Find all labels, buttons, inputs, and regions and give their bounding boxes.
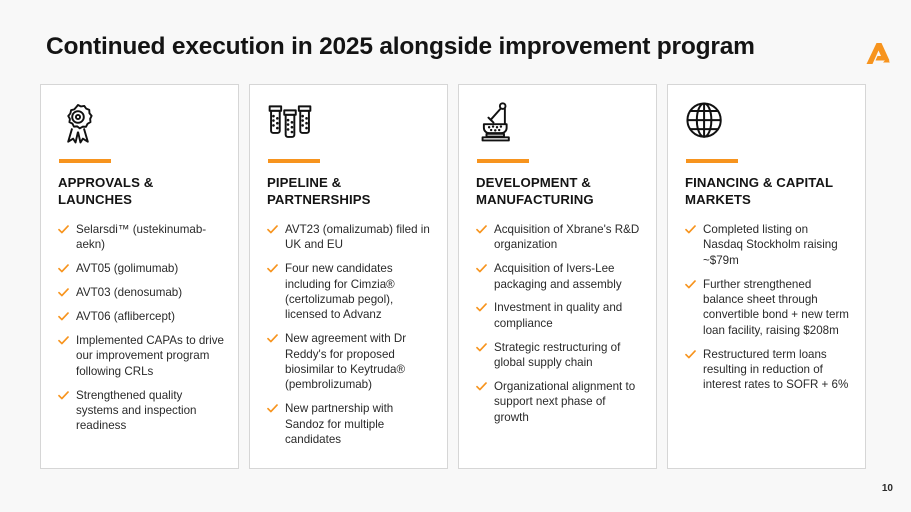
list-item-text: Acquisition of Xbrane's R&D organization [494, 222, 642, 253]
check-icon [267, 261, 278, 275]
list-item: Implemented CAPAs to drive our improveme… [58, 333, 224, 379]
list-item: Completed listing on Nasdaq Stockholm ra… [685, 222, 851, 268]
list-item-text: Four new candidates including for Cimzia… [285, 261, 433, 323]
card-pipeline-partnerships: PIPELINE & PARTNERSHIPS AVT23 (omalizuma… [249, 84, 448, 469]
check-icon [58, 261, 69, 275]
check-icon [476, 261, 487, 275]
list-item-text: AVT06 (aflibercept) [76, 309, 175, 324]
card-heading: PIPELINE & PARTNERSHIPS [267, 175, 433, 209]
globe-icon [685, 101, 851, 149]
list-item: AVT23 (omalizumab) filed in UK and EU [267, 222, 433, 253]
check-icon [58, 333, 69, 347]
vials-icon [267, 101, 433, 149]
microscope-icon [476, 101, 642, 149]
page-number: 10 [882, 483, 893, 494]
list-item-text: Strengthened quality systems and inspect… [76, 388, 224, 434]
list-item: Four new candidates including for Cimzia… [267, 261, 433, 323]
list-item-text: Investment in quality and compliance [494, 300, 642, 331]
list-item: New partnership with Sandoz for multiple… [267, 401, 433, 447]
list-item: Further strengthened balance sheet throu… [685, 277, 851, 339]
list-item: AVT03 (denosumab) [58, 285, 224, 300]
bullet-list: Completed listing on Nasdaq Stockholm ra… [685, 222, 851, 393]
accent-bar [477, 159, 529, 163]
list-item-text: AVT05 (golimumab) [76, 261, 178, 276]
check-icon [476, 222, 487, 236]
list-item-text: AVT03 (denosumab) [76, 285, 182, 300]
list-item: Restructured term loans resulting in red… [685, 347, 851, 393]
check-icon [476, 340, 487, 354]
check-icon [685, 222, 696, 236]
check-icon [58, 285, 69, 299]
check-icon [267, 401, 278, 415]
list-item-text: New partnership with Sandoz for multiple… [285, 401, 433, 447]
accent-bar [59, 159, 111, 163]
list-item-text: Implemented CAPAs to drive our improveme… [76, 333, 224, 379]
check-icon [685, 277, 696, 291]
alvotech-logo-mark [863, 40, 893, 68]
list-item-text: Selarsdi™ (ustekinumab-aekn) [76, 222, 224, 253]
check-icon [476, 300, 487, 314]
list-item: Investment in quality and compliance [476, 300, 642, 331]
list-item: New agreement with Dr Reddy's for propos… [267, 331, 433, 393]
list-item-text: AVT23 (omalizumab) filed in UK and EU [285, 222, 433, 253]
check-icon [58, 222, 69, 236]
list-item: Acquisition of Ivers-Lee packaging and a… [476, 261, 642, 292]
list-item: Organizational alignment to support next… [476, 379, 642, 425]
list-item-text: Restructured term loans resulting in red… [703, 347, 851, 393]
bullet-list: AVT23 (omalizumab) filed in UK and EU Fo… [267, 222, 433, 448]
list-item: AVT05 (golimumab) [58, 261, 224, 276]
list-item-text: Further strengthened balance sheet throu… [703, 277, 851, 339]
card-heading: APPROVALS & LAUNCHES [58, 175, 224, 209]
page-title: Continued execution in 2025 alongside im… [46, 33, 755, 61]
slide: Continued execution in 2025 alongside im… [0, 0, 911, 512]
list-item: Strengthened quality systems and inspect… [58, 388, 224, 434]
bullet-list: Acquisition of Xbrane's R&D organization… [476, 222, 642, 425]
list-item: Strategic restructuring of global supply… [476, 340, 642, 371]
card-heading: DEVELOPMENT & MANUFACTURING [476, 175, 642, 209]
award-rosette-icon [58, 101, 224, 149]
check-icon [58, 388, 69, 402]
accent-bar [686, 159, 738, 163]
bullet-list: Selarsdi™ (ustekinumab-aekn) AVT05 (goli… [58, 222, 224, 434]
list-item: Acquisition of Xbrane's R&D organization [476, 222, 642, 253]
accent-bar [268, 159, 320, 163]
check-icon [267, 222, 278, 236]
cards-row: APPROVALS & LAUNCHES Selarsdi™ (ustekinu… [40, 84, 872, 469]
list-item-text: Organizational alignment to support next… [494, 379, 642, 425]
list-item: Selarsdi™ (ustekinumab-aekn) [58, 222, 224, 253]
card-heading: FINANCING & CAPITAL MARKETS [685, 175, 851, 209]
card-approvals-launches: APPROVALS & LAUNCHES Selarsdi™ (ustekinu… [40, 84, 239, 469]
list-item-text: New agreement with Dr Reddy's for propos… [285, 331, 433, 393]
list-item: AVT06 (aflibercept) [58, 309, 224, 324]
list-item-text: Completed listing on Nasdaq Stockholm ra… [703, 222, 851, 268]
check-icon [476, 379, 487, 393]
card-development-manufacturing: DEVELOPMENT & MANUFACTURING Acquisition … [458, 84, 657, 469]
check-icon [685, 347, 696, 361]
list-item-text: Acquisition of Ivers-Lee packaging and a… [494, 261, 642, 292]
card-financing-capital-markets: FINANCING & CAPITAL MARKETS Completed li… [667, 84, 866, 469]
list-item-text: Strategic restructuring of global supply… [494, 340, 642, 371]
check-icon [267, 331, 278, 345]
check-icon [58, 309, 69, 323]
